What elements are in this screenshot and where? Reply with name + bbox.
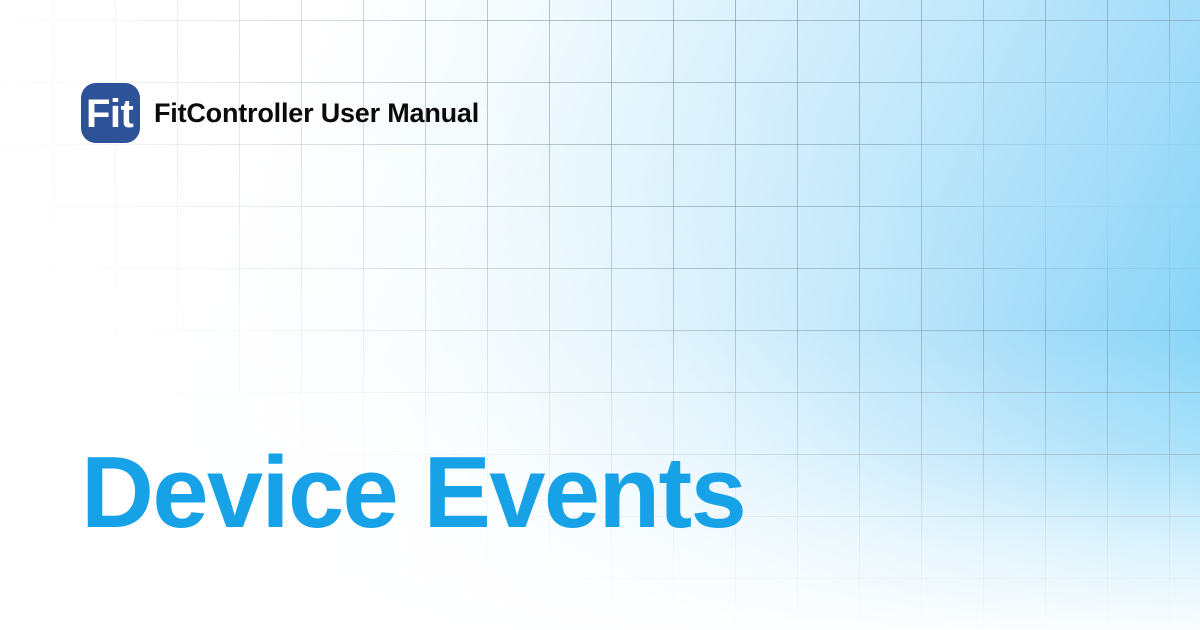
manual-title: FitController User Manual <box>154 100 479 127</box>
fit-logo-svg: Fit Fit <box>81 83 161 145</box>
page-title: Device Events <box>81 443 745 544</box>
cover-page: Fit Fit FitController User Manual Device… <box>0 0 1200 630</box>
logo-letters: Fit <box>86 92 134 136</box>
brand-header: Fit Fit FitController User Manual <box>81 83 479 143</box>
fit-logo-icon: Fit Fit <box>81 83 140 143</box>
